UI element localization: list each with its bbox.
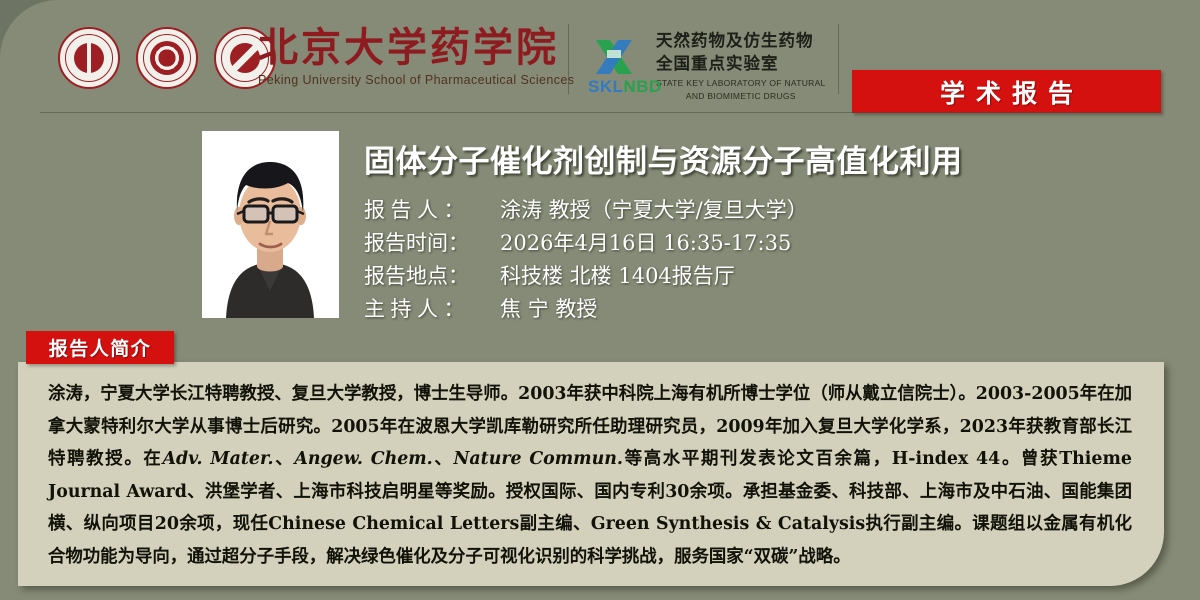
poster-header: 北京大学药学院 Peking University School of Phar…: [0, 0, 1200, 118]
brand-name-chinese: 北京大学药学院: [258, 26, 558, 71]
peking-university-seal: [58, 27, 120, 89]
seal-emblem: [230, 43, 260, 73]
journal-name: Nature Commun.: [454, 449, 623, 469]
lab-text-block: 天然药物及仿生药物 全国重点实验室 STATE KEY LABORATORY O…: [656, 27, 826, 102]
journal-name: Angew. Chem.: [294, 449, 432, 469]
header-divider-right: [838, 24, 839, 94]
peking-university-health-science-center-seal: [136, 27, 198, 89]
detail-row-location: 报告地点： 科技楼 北楼 1404报告厅: [364, 260, 808, 293]
detail-row-speaker: 报告人： 涂涛 教授（宁夏大学/复旦大学）: [364, 194, 808, 227]
academic-report-banner: 学术报告: [852, 70, 1161, 113]
speaker-portrait: [202, 131, 339, 318]
biography-text: 涂涛，宁夏大学长江特聘教授、复旦大学教授，博士生导师。2003年获中科院上海有机…: [48, 378, 1132, 574]
detail-value-time: 2026年4月16日 16:35-17:35: [500, 227, 791, 257]
helix-icon: [590, 34, 638, 80]
detail-label-location: 报告地点：: [364, 260, 500, 290]
header-divider-left: [568, 24, 569, 94]
lab-abbr-skl: SKL: [588, 77, 624, 96]
university-brand: 北京大学药学院 Peking University School of Phar…: [258, 26, 558, 87]
seal-emblem: [150, 41, 184, 75]
speaker-portrait-image: [202, 131, 339, 318]
biography-run: 、: [274, 449, 295, 469]
detail-value-speaker: 涂涛 教授（宁夏大学/复旦大学）: [500, 194, 808, 224]
seminar-details: 报告人： 涂涛 教授（宁夏大学/复旦大学） 报告时间： 2026年4月16日 1…: [364, 194, 808, 326]
lab-logo: SKLNBD: [586, 32, 648, 96]
academic-report-banner-label: 学术报告: [929, 74, 1084, 110]
biography-run: 、: [433, 449, 454, 469]
lab-abbr-nbd: NBD: [624, 77, 662, 96]
detail-row-time: 报告时间： 2026年4月16日 16:35-17:35: [364, 227, 808, 260]
brand-name-english: Peking University School of Pharmaceutic…: [258, 73, 558, 87]
university-seals: [58, 27, 276, 89]
lab-name-english-line1: STATE KEY LABORATORY OF NATURAL: [656, 78, 826, 89]
detail-label-host: 主持人：: [364, 293, 500, 323]
lab-name-chinese-line2: 全国重点实验室: [656, 52, 826, 75]
biography-tab-label: 报告人简介: [49, 334, 152, 361]
state-key-laboratory-logo-block: SKLNBD 天然药物及仿生药物 全国重点实验室 STATE KEY LABOR…: [586, 27, 826, 102]
seal-emblem: [74, 43, 104, 73]
journal-name: Adv. Mater.: [163, 449, 274, 469]
lab-name-chinese-line1: 天然药物及仿生药物: [656, 29, 826, 52]
biography-tab: 报告人简介: [26, 331, 174, 364]
detail-label-time: 报告时间：: [364, 227, 500, 257]
detail-value-host: 焦 宁 教授: [500, 293, 597, 323]
biography-card: 涂涛，宁夏大学长江特聘教授、复旦大学教授，博士生导师。2003年获中科院上海有机…: [18, 362, 1164, 586]
detail-value-location: 科技楼 北楼 1404报告厅: [500, 260, 735, 290]
detail-label-speaker: 报告人：: [364, 194, 500, 224]
seminar-title: 固体分子催化剂创制与资源分子高值化利用: [364, 136, 963, 181]
seminar-poster: 北京大学药学院 Peking University School of Phar…: [0, 0, 1200, 600]
header-rule: [40, 112, 1158, 113]
lab-abbreviation: SKLNBD: [588, 77, 662, 97]
detail-row-host: 主持人： 焦 宁 教授: [364, 293, 808, 326]
lab-name-english-line2: AND BIOMIMETIC DRUGS: [656, 91, 826, 102]
